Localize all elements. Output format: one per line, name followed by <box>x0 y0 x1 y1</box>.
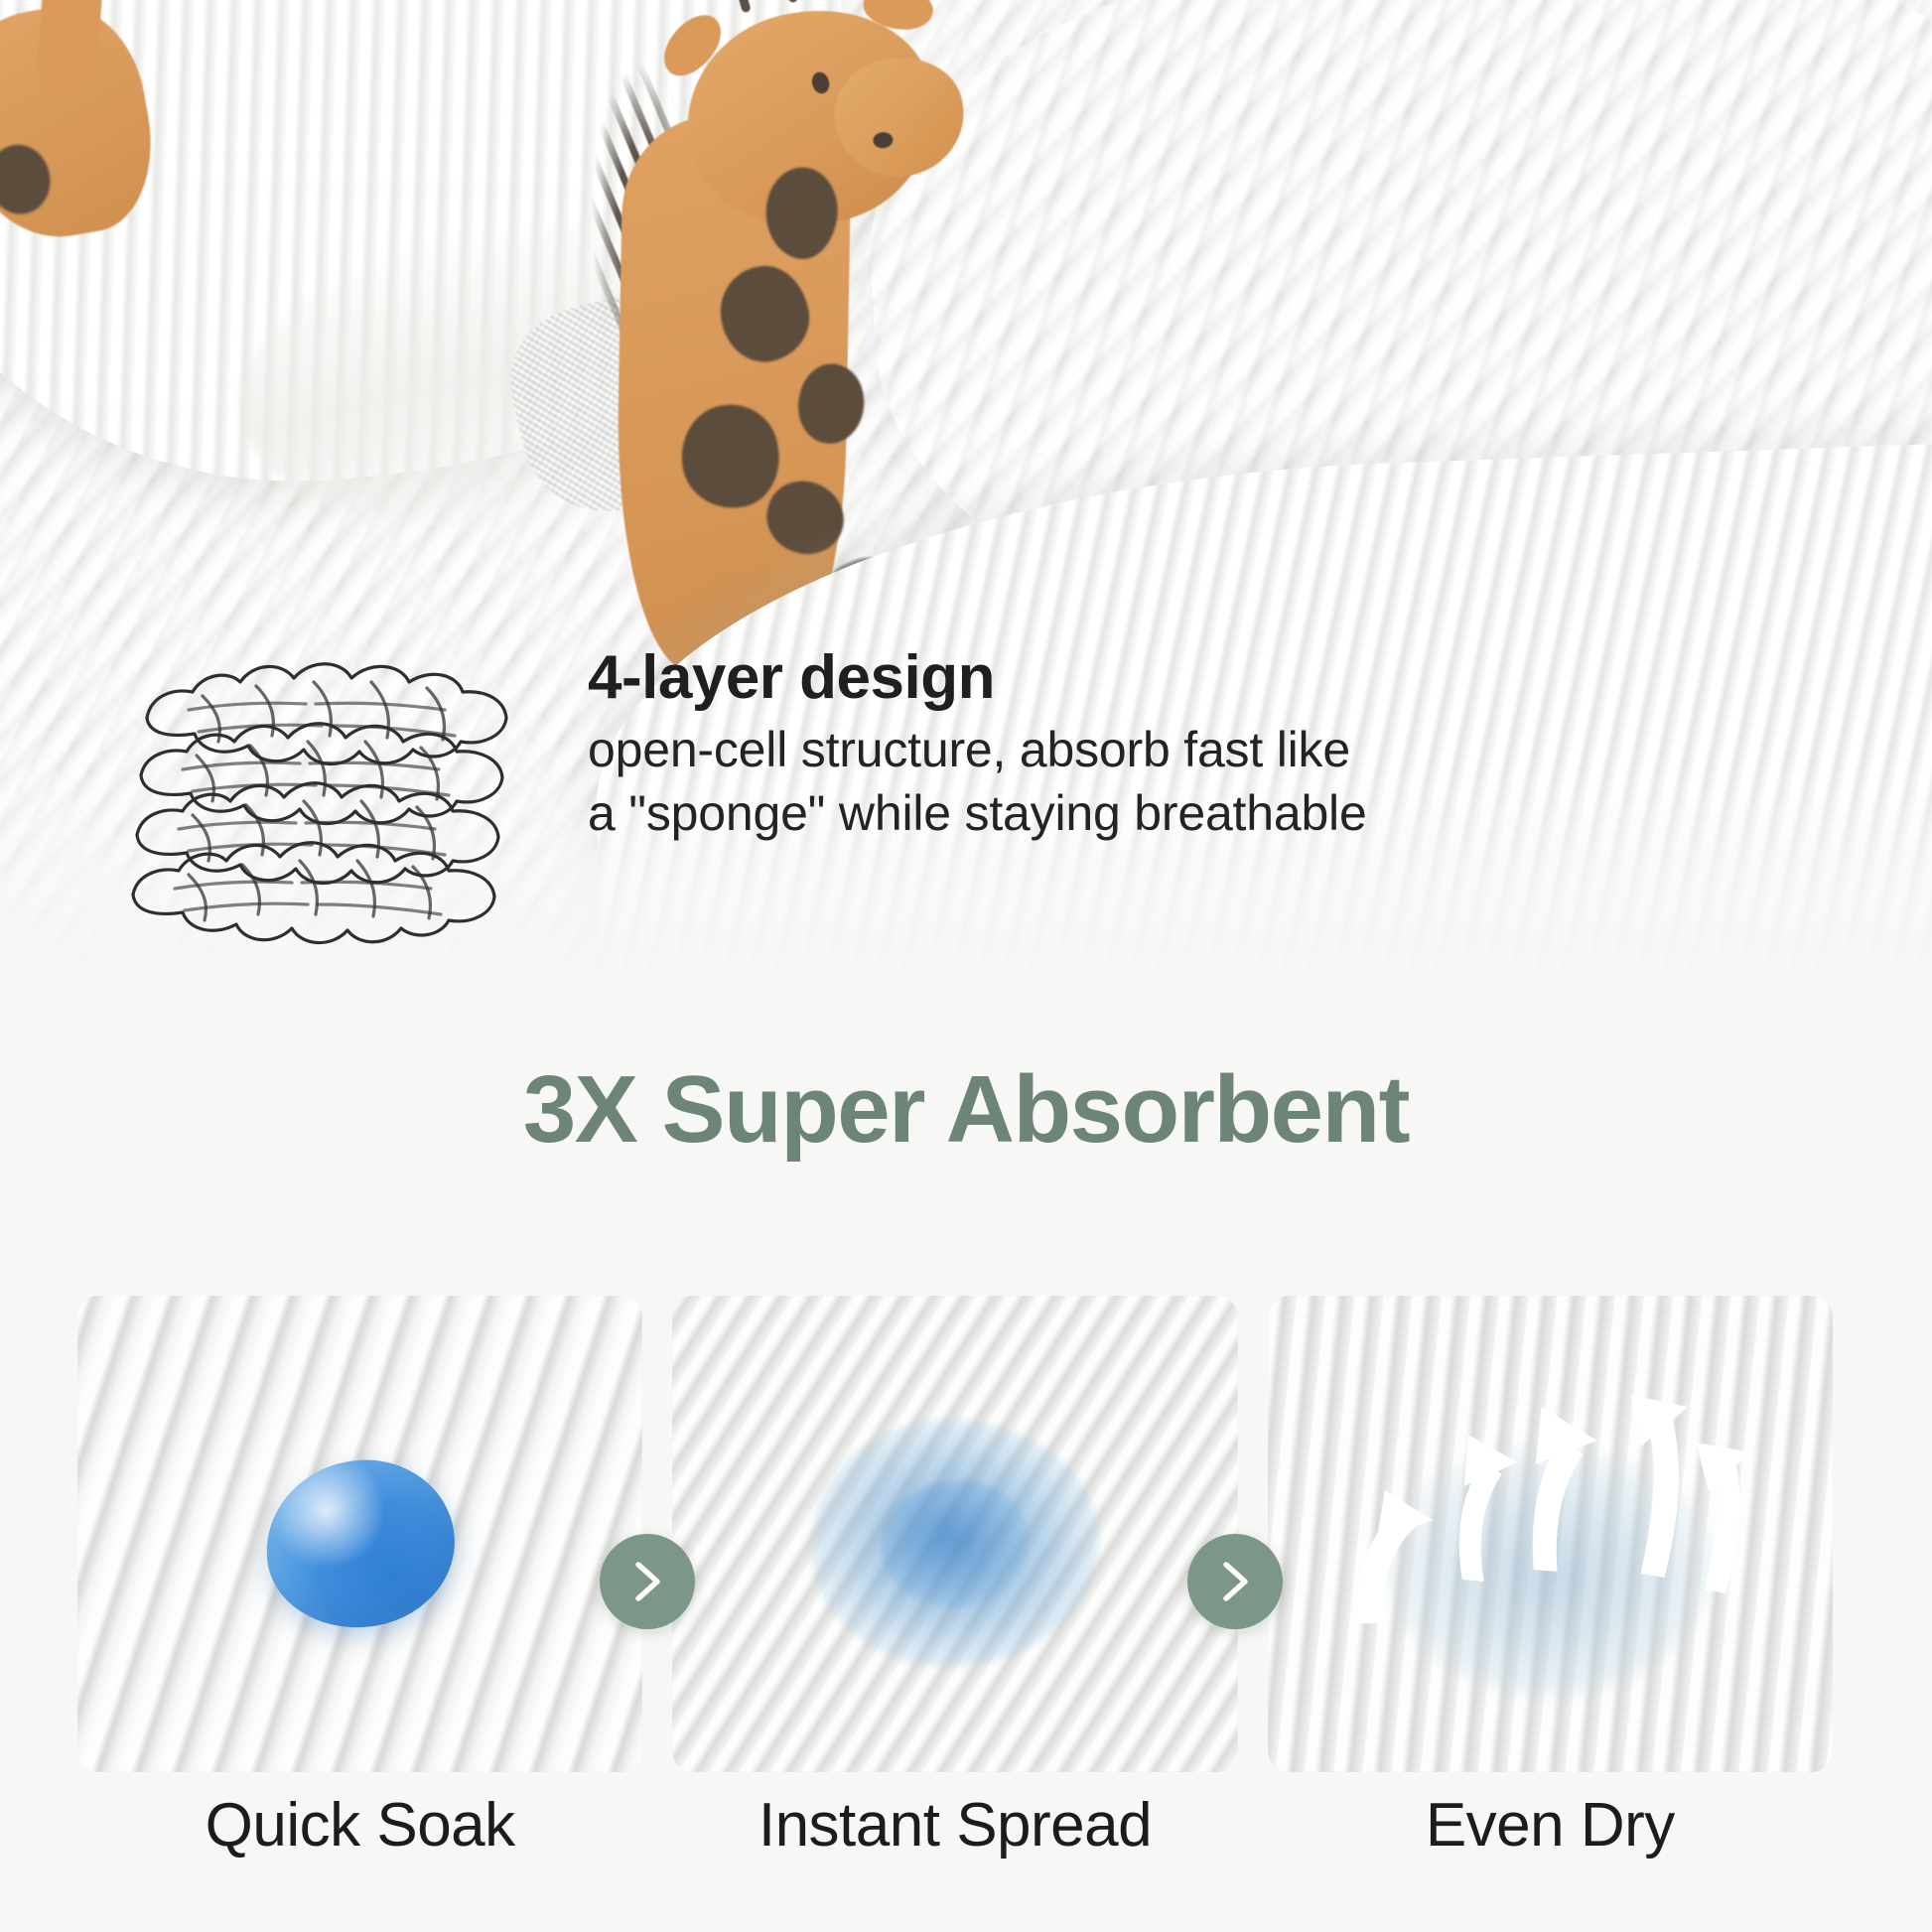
caption-instant-spread: Instant Spread <box>672 1792 1237 1860</box>
step-connector-1 <box>600 1534 695 1629</box>
giraffe-ossicone-right <box>788 0 799 3</box>
evaporation-arrows-icon <box>1268 1296 1833 1772</box>
four-layer-text-group: 4-layer design open-cell structure, abso… <box>588 645 1878 845</box>
step-tile-instant-spread <box>672 1296 1237 1772</box>
caption-quick-soak: Quick Soak <box>77 1792 642 1860</box>
feature-title: 4-layer design <box>588 645 1878 710</box>
step-tile-quick-soak <box>77 1296 642 1772</box>
four-layer-fabric-stack-icon <box>107 601 554 948</box>
caption-even-dry: Even Dry <box>1268 1792 1833 1860</box>
feature-description-line-2: a "sponge" while staying breathable <box>588 781 1878 845</box>
step-captions: Quick Soak Instant Spread Even Dry <box>77 1792 1833 1860</box>
chevron-right-icon <box>1218 1560 1252 1603</box>
feature-description: open-cell structure, absorb fast like a … <box>588 718 1878 845</box>
step-tile-even-dry <box>1268 1296 1833 1772</box>
chevron-right-icon <box>630 1560 664 1603</box>
giraffe-ossicone-left <box>730 0 751 13</box>
feature-description-line-1: open-cell structure, absorb fast like <box>588 718 1878 781</box>
step-connector-2 <box>1187 1534 1283 1629</box>
absorbency-headline: 3X Super Absorbent <box>0 1062 1932 1158</box>
product-infographic: 4-layer design open-cell structure, abso… <box>0 0 1932 1932</box>
absorbency-step-tiles <box>77 1296 1833 1772</box>
four-layer-feature-block: 4-layer design open-cell structure, abso… <box>0 596 1932 1013</box>
